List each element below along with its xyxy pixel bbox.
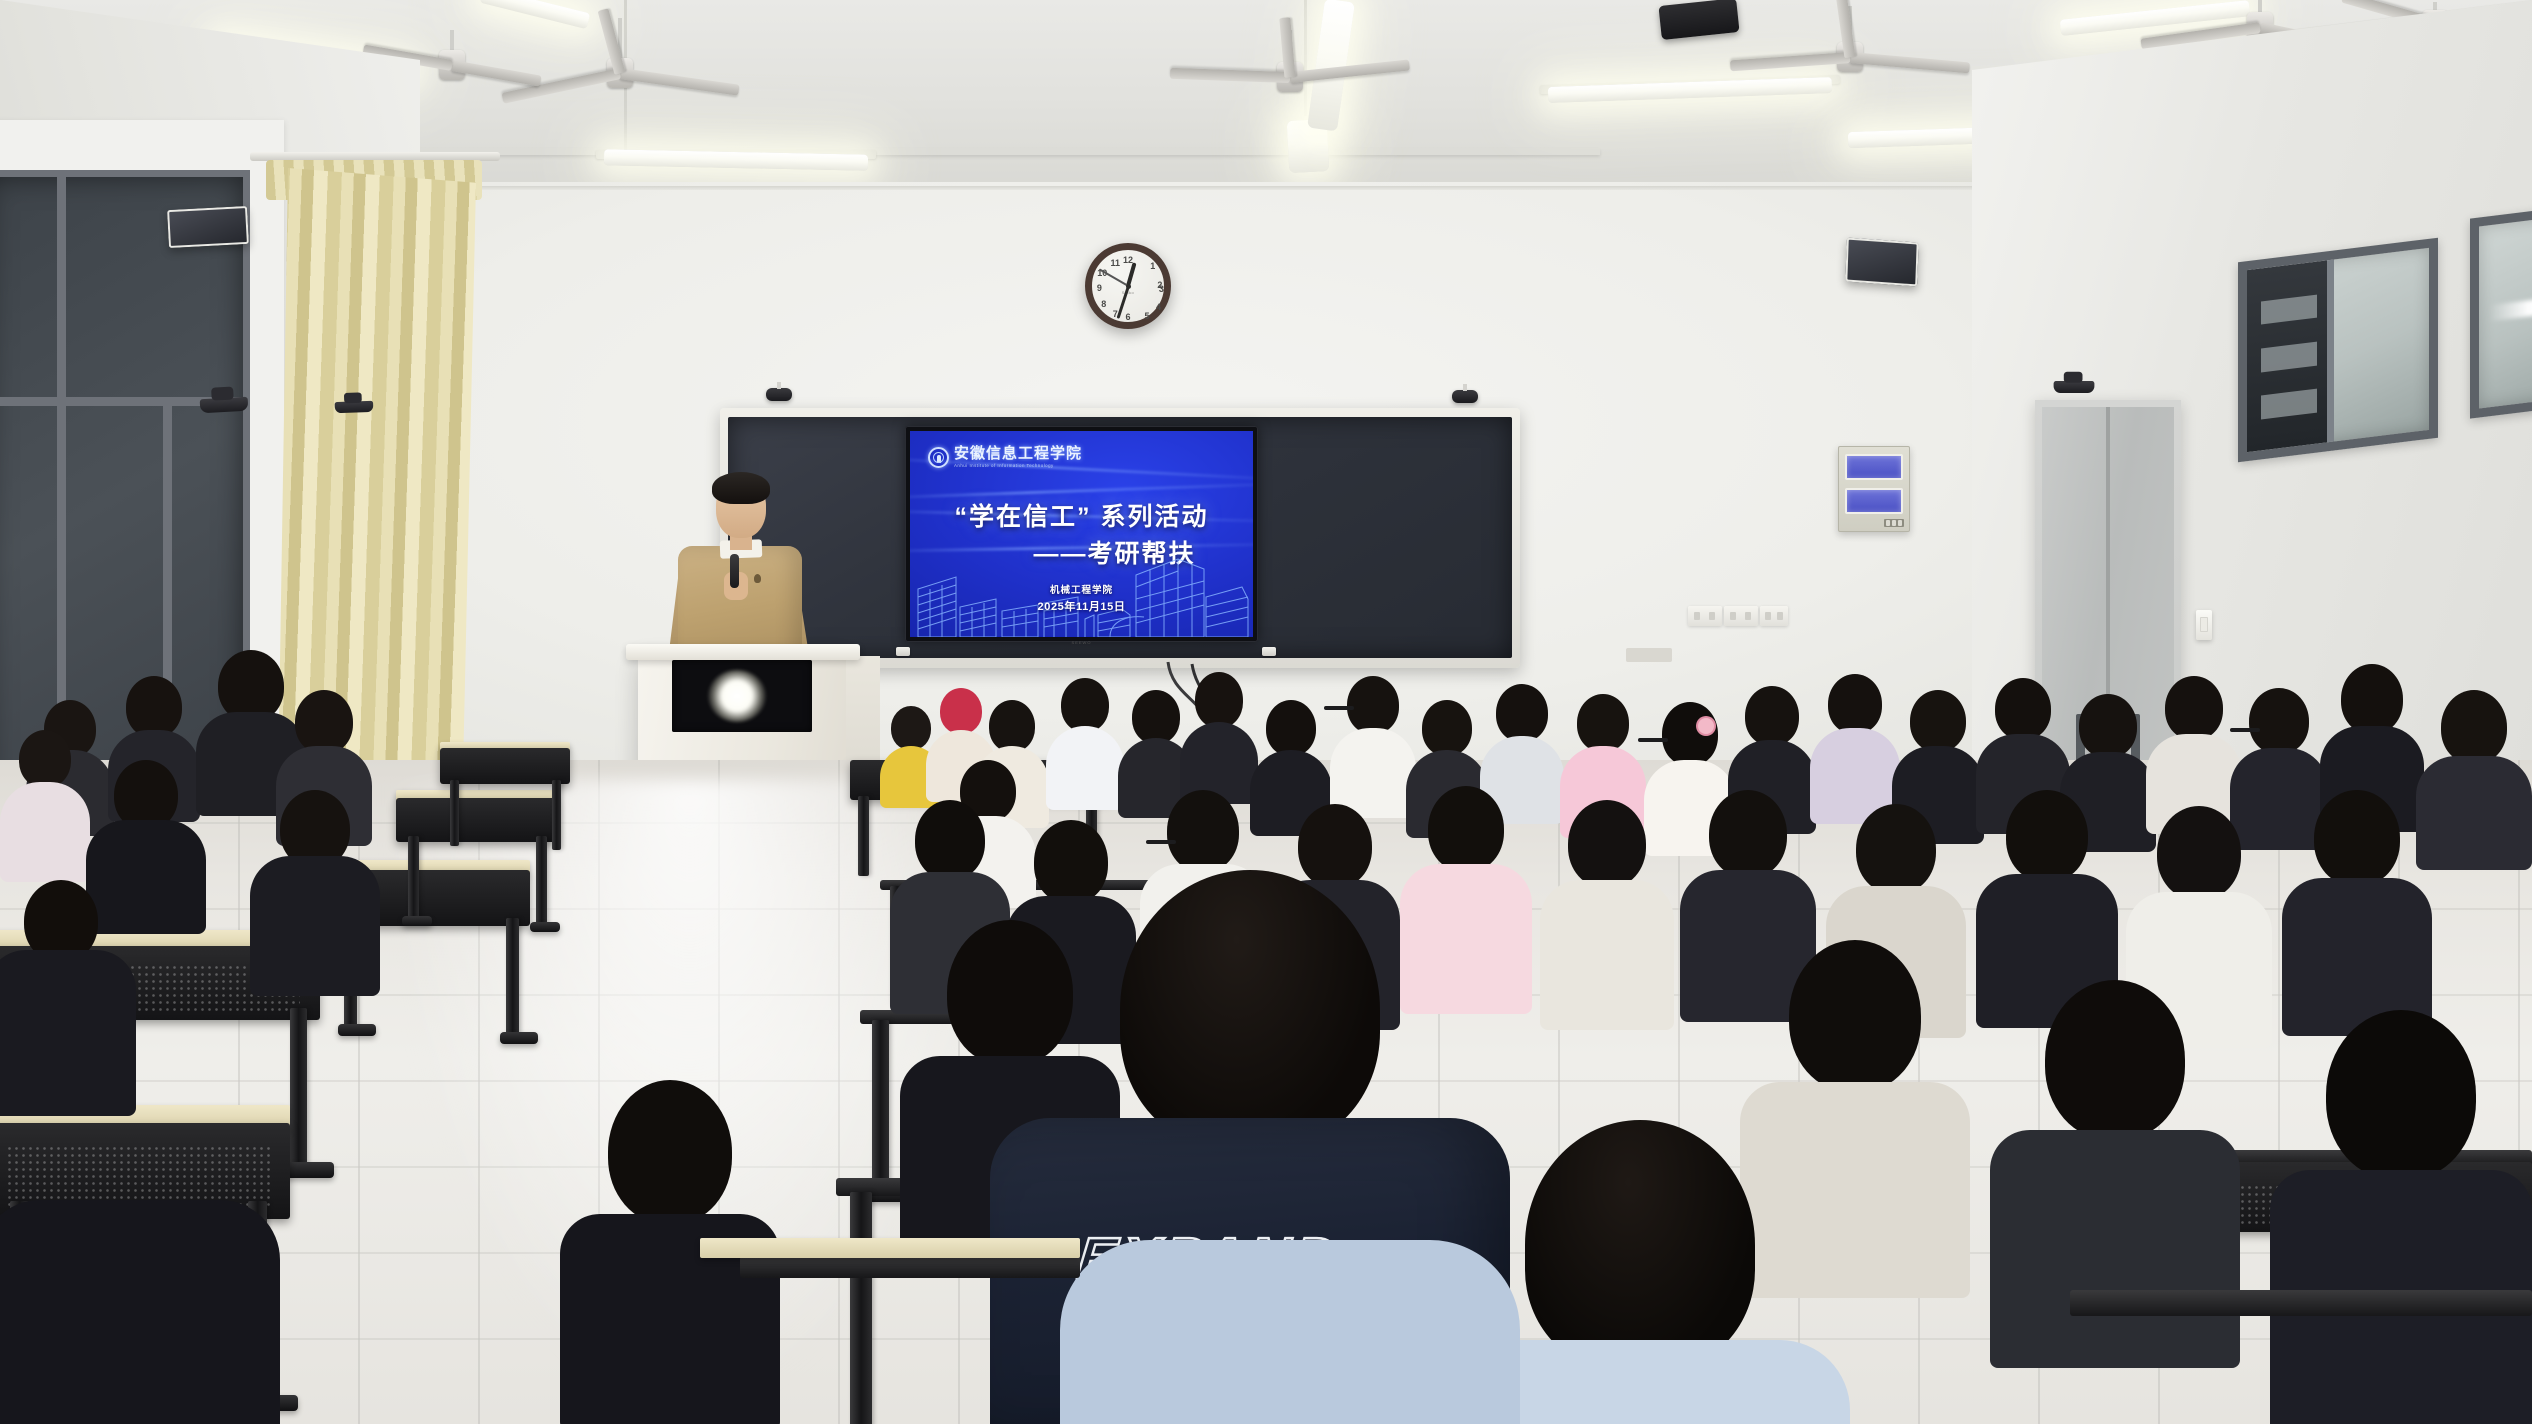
slide-title-line1: “学在信工” 系列活动 bbox=[910, 503, 1253, 532]
audience-member bbox=[0, 730, 90, 880]
wall-outlet-3[interactable] bbox=[1760, 606, 1788, 626]
monitor-glare bbox=[708, 670, 766, 722]
clock-number-6: 6 bbox=[1122, 313, 1134, 322]
ceiling-fan-2 bbox=[1160, 30, 1420, 140]
presentation-slide: 安徽信息工程学院 Anhui Institute of Information … bbox=[910, 431, 1253, 637]
classroom-blackboard: 安徽信息工程学院 Anhui Institute of Information … bbox=[720, 408, 1520, 668]
audience-member bbox=[0, 880, 136, 1110]
clock-number-8: 8 bbox=[1098, 300, 1110, 309]
screen-mount-clip-right bbox=[1262, 647, 1276, 656]
audience-member bbox=[0, 1200, 280, 1424]
light-switch[interactable] bbox=[2196, 610, 2212, 640]
control-panel-display-2 bbox=[1845, 488, 1903, 514]
clock-number-4: 4 bbox=[1152, 303, 1164, 312]
wall-speaker-right bbox=[1845, 238, 1918, 287]
slide-department: 机械工程学院 bbox=[910, 582, 1253, 596]
audience-member bbox=[2146, 676, 2242, 826]
slide-footer: 机械工程学院 2025年11月15日 bbox=[910, 582, 1253, 614]
university-logo: 安徽信息工程学院 Anhui Institute of Information … bbox=[928, 446, 1082, 469]
handheld-microphone bbox=[730, 554, 739, 588]
right-window-1 bbox=[2238, 238, 2438, 463]
clock-number-5: 5 bbox=[1141, 312, 1153, 321]
audience-member bbox=[250, 790, 380, 990]
control-panel-indicator-leds bbox=[1884, 519, 1904, 527]
audience-member bbox=[1810, 674, 1900, 816]
podium-monitor[interactable] bbox=[672, 660, 812, 732]
screen-brand-label: SEEWO bbox=[1072, 640, 1092, 645]
audience-member bbox=[1540, 800, 1674, 1016]
clock-hour-hand bbox=[1126, 262, 1136, 286]
control-panel-display-1 bbox=[1845, 454, 1903, 480]
cable-trunking bbox=[1626, 648, 1672, 662]
screen-mount-clip-left bbox=[896, 647, 910, 656]
presenter-jacket-logo bbox=[754, 574, 761, 583]
clock-number-1: 1 bbox=[1147, 262, 1159, 271]
wall-outlet-2[interactable] bbox=[1724, 606, 1758, 626]
audience-member bbox=[1046, 678, 1124, 804]
board-camera-left bbox=[766, 388, 792, 401]
security-camera-left bbox=[200, 397, 249, 413]
ceiling-fan-3 bbox=[1720, 6, 1980, 116]
clock-center-pin bbox=[1126, 284, 1131, 289]
wall-control-panel[interactable] bbox=[1838, 446, 1910, 532]
desk-rail-foreground-left[interactable] bbox=[740, 1256, 1080, 1278]
audience-member bbox=[2282, 790, 2432, 1022]
audience-member bbox=[2416, 690, 2532, 860]
right-window-2 bbox=[2470, 201, 2532, 418]
lecture-hall-scene: 12 1 2 3 4 5 6 7 8 9 10 11 Seiko bbox=[0, 0, 2532, 1424]
wall-outlet-1[interactable] bbox=[1688, 606, 1722, 626]
audience-member bbox=[1060, 1240, 1520, 1424]
presentation-screen[interactable]: 安徽信息工程学院 Anhui Institute of Information … bbox=[905, 426, 1258, 642]
audience-member bbox=[2270, 1010, 2532, 1424]
podium-desktop bbox=[626, 644, 860, 660]
desk-rail-foreground-right[interactable] bbox=[2070, 1290, 2532, 1316]
projector-bracket-left bbox=[335, 401, 374, 414]
university-name-en: Anhui Institute of Information Technolog… bbox=[954, 463, 1082, 469]
presenter-hair bbox=[712, 472, 770, 504]
audience-member bbox=[1180, 672, 1258, 796]
wall-clock: 12 1 2 3 4 5 6 7 8 9 10 11 Seiko bbox=[1085, 243, 1171, 329]
board-camera-right bbox=[1452, 390, 1478, 403]
ceiling-edge-front bbox=[380, 148, 1600, 155]
university-emblem-icon bbox=[928, 447, 949, 468]
wall-speaker-left bbox=[167, 206, 249, 248]
security-camera-right bbox=[2054, 381, 2095, 393]
desktop-foreground-left[interactable] bbox=[700, 1238, 1080, 1258]
slide-date: 2025年11月15日 bbox=[910, 598, 1253, 614]
clock-number-11: 11 bbox=[1109, 259, 1121, 268]
university-name-cn: 安徽信息工程学院 bbox=[954, 446, 1082, 461]
